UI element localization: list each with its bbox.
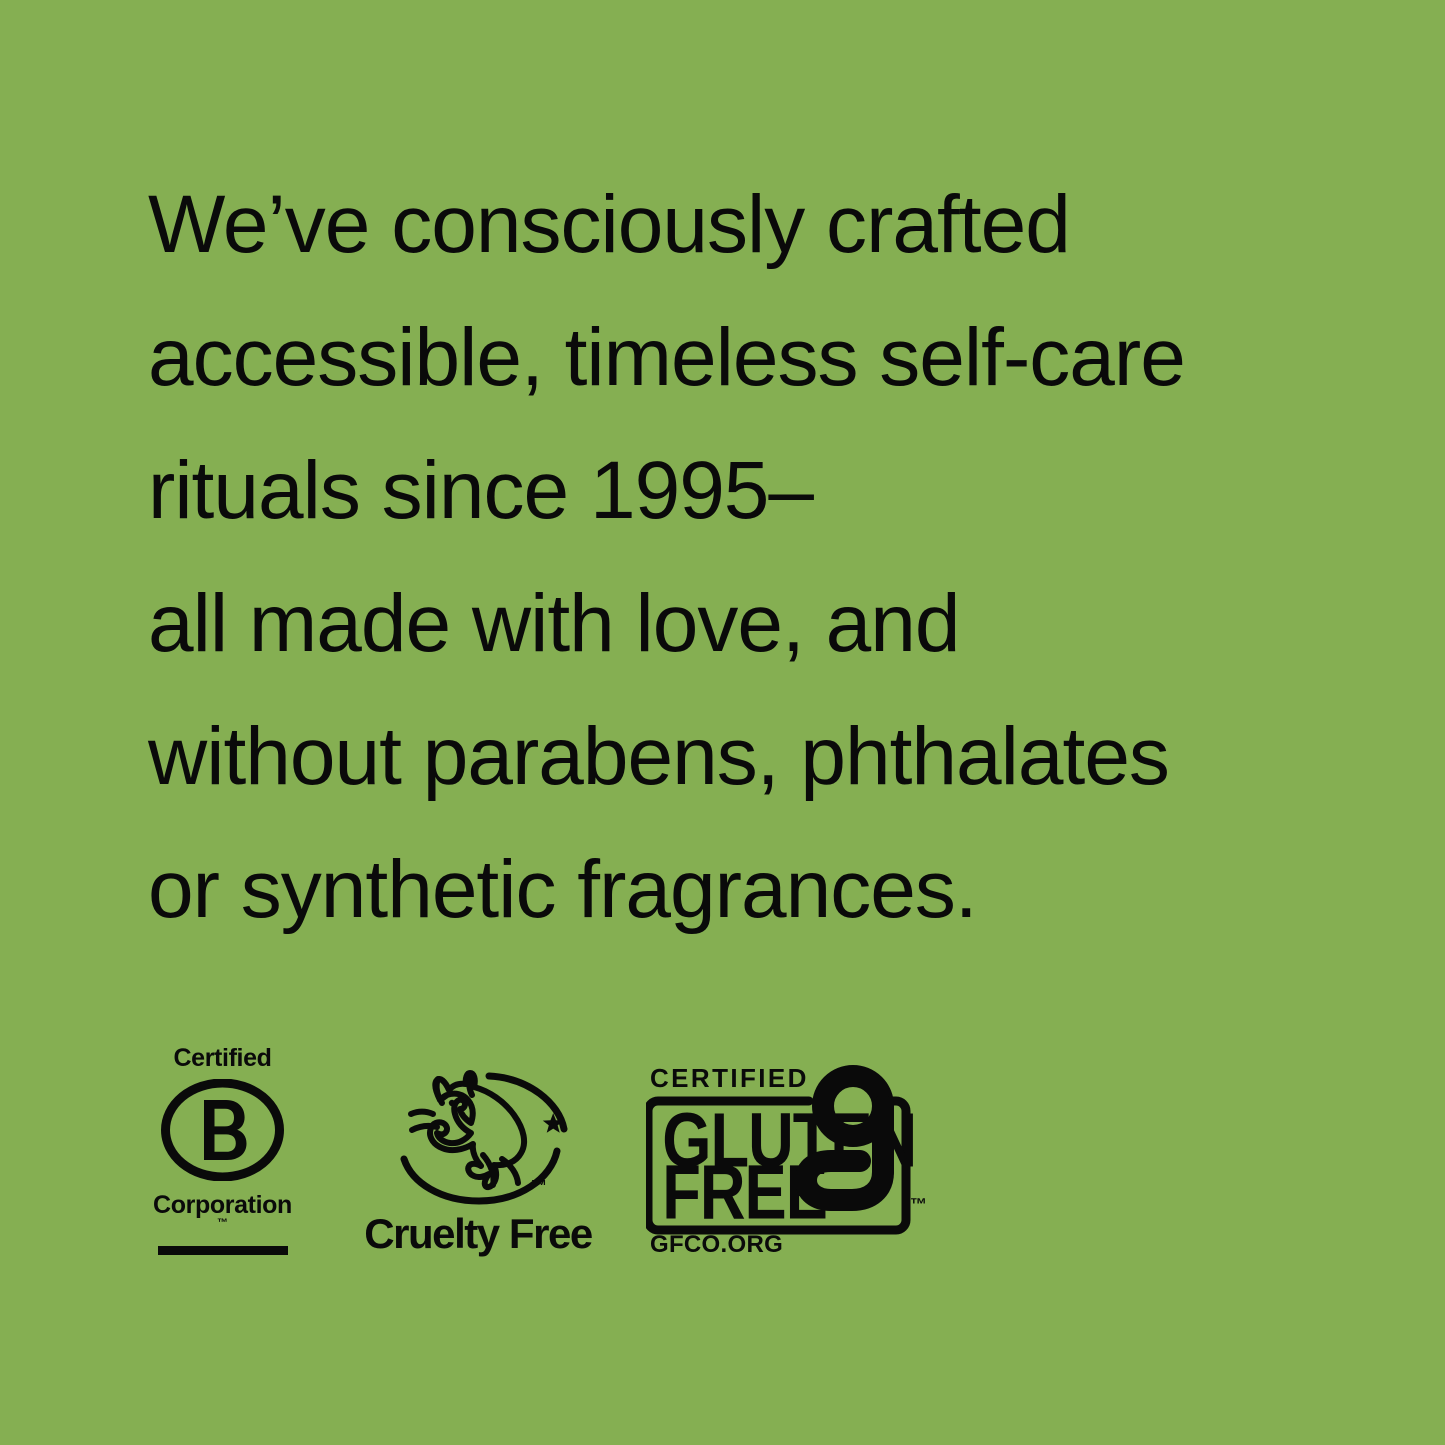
b-corp-icon [159,1079,286,1181]
cruelty-free-label: Cruelty Free [362,1213,594,1255]
headline-line-3: rituals since 1995– [148,424,1388,557]
b-corp-trademark-icon: ™ [217,1217,228,1229]
gluten-free-trademark-icon: ™ [910,1195,927,1214]
headline-line-5: without parabens, phthalates [148,690,1388,823]
badge-cruelty-free: ™ Cruelty Free [362,1067,594,1255]
badge-gluten-free: CERTIFIED GLUTEN FREE ™ [646,1060,946,1255]
cruelty-free-trademark-icon: ™ [531,1178,547,1195]
gfco-gluten-free-icon: CERTIFIED GLUTEN FREE ™ [646,1060,946,1255]
headline-line-1: We’ve consciously crafted [148,158,1388,291]
b-corp-corporation-label: Corporation [153,1193,292,1218]
b-corp-underline-rule [158,1246,288,1255]
certification-badge-row: Certified Corporation™ [150,1040,946,1255]
b-corp-wordmark: Corporation™ [150,1193,295,1237]
gluten-free-url-label: GFCO.ORG [650,1231,783,1255]
b-corp-certified-label: Certified [150,1046,295,1071]
gluten-free-certified-label: CERTIFIED [650,1063,809,1093]
leaping-bunny-icon: ™ [371,1067,586,1217]
badge-b-corporation: Certified Corporation™ [150,1046,295,1255]
page-title: We’ve consciously crafted accessible, ti… [148,158,1388,956]
headline-line-4: all made with love, and [148,557,1388,690]
promo-card: We’ve consciously crafted accessible, ti… [0,0,1445,1445]
headline-line-6: or synthetic fragrances. [148,823,1388,956]
headline-line-2: accessible, timeless self-care [148,291,1388,424]
